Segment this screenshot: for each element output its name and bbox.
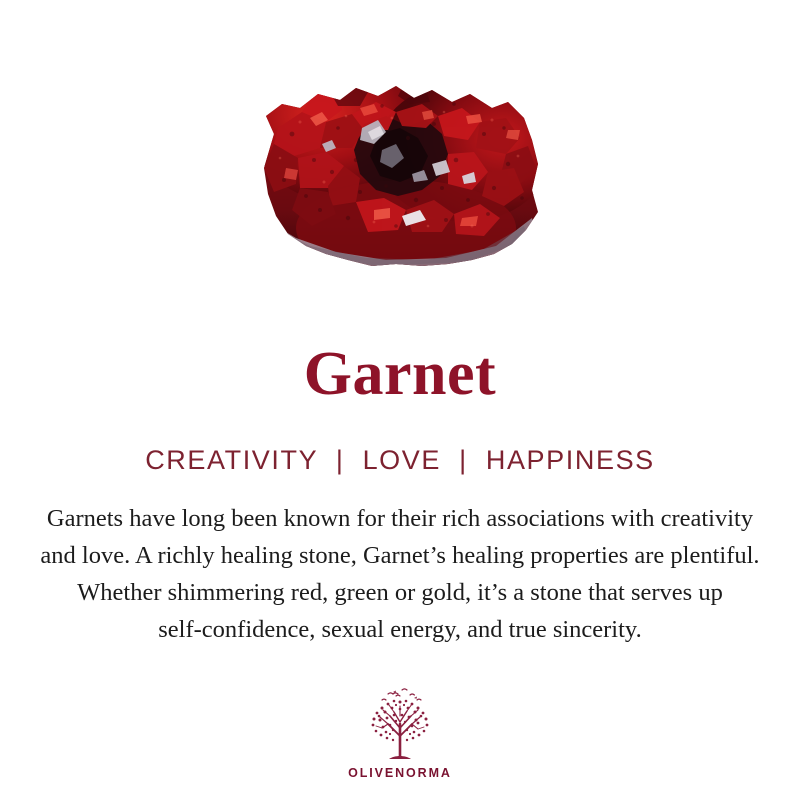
description-line: self-confidence, sexual energy, and true…: [0, 611, 800, 648]
description-line: Garnets have long been known for their r…: [0, 500, 800, 537]
tree-icon: [358, 684, 442, 764]
description-text: Garnets have long been known for their r…: [0, 500, 800, 648]
brand-logo: OLIVENORMA: [0, 684, 800, 780]
keyword-love: LOVE: [363, 445, 441, 475]
garnet-info-card: Garnet CREATIVITY | LOVE | HAPPINESS Gar…: [0, 0, 800, 800]
garnet-stone-svg: [256, 68, 546, 270]
description-line: and love. A richly healing stone, Garnet…: [0, 537, 800, 574]
brand-wordmark: OLIVENORMA: [0, 766, 800, 780]
keyword-creativity: CREATIVITY: [145, 445, 318, 475]
keyword-separator: |: [327, 445, 354, 476]
gemstone-image-area: [0, 40, 800, 290]
keyword-line: CREATIVITY | LOVE | HAPPINESS: [0, 445, 800, 476]
description-line: Whether shimmering red, green or gold, i…: [0, 574, 800, 611]
garnet-stone-image: [256, 68, 546, 270]
keyword-separator: |: [450, 445, 477, 476]
keyword-happiness: HAPPINESS: [486, 445, 655, 475]
page-title: Garnet: [0, 340, 800, 408]
